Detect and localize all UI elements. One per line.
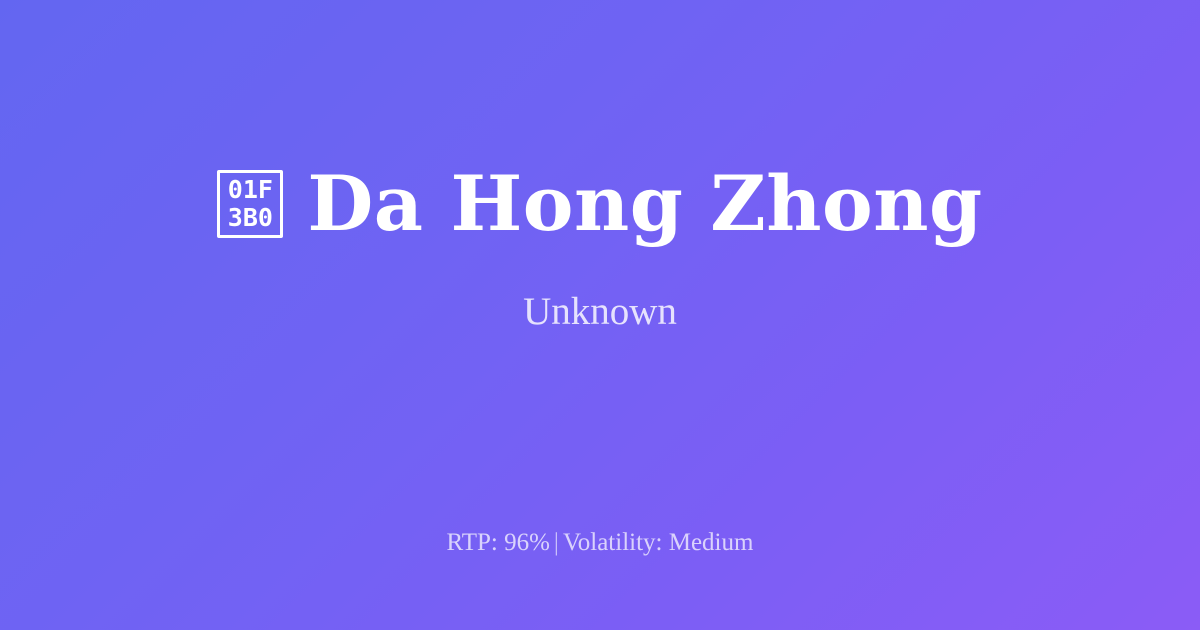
slot-machine-icon-codepoint-bottom: 3B0: [228, 204, 273, 232]
slot-machine-icon: 01F 3B0: [217, 170, 283, 238]
provider-subtitle: Unknown: [523, 243, 677, 334]
title-row: 01F 3B0 Da Hong Zhong: [217, 164, 982, 244]
game-stats-footer: RTP: 96%|Volatility: Medium: [0, 528, 1200, 558]
slot-machine-icon-codepoint-top: 01F: [228, 176, 273, 204]
volatility-stat: Volatility: Medium: [563, 529, 754, 556]
og-preview-card: 01F 3B0 Da Hong Zhong Unknown RTP: 96%|V…: [0, 0, 1200, 630]
rtp-stat: RTP: 96%: [447, 529, 550, 556]
page-title: Da Hong Zhong: [307, 164, 982, 244]
hero-block: 01F 3B0 Da Hong Zhong Unknown: [0, 0, 1200, 498]
stat-separator: |: [550, 529, 563, 556]
